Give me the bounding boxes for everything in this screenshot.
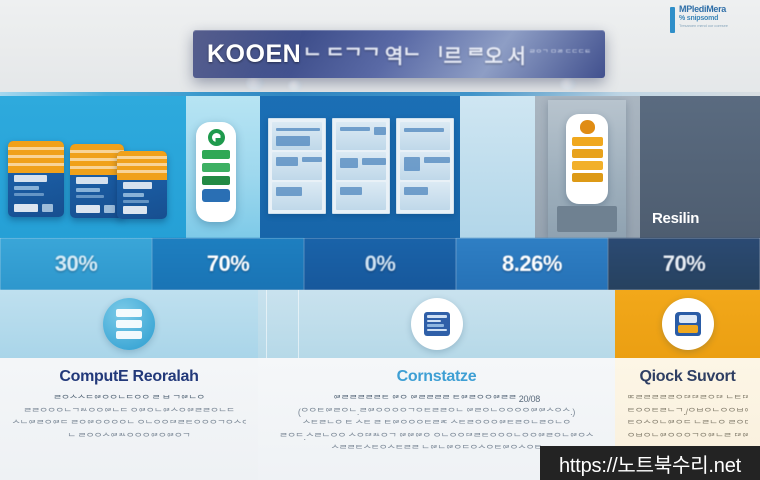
stat-value-4: 8.26% [502,251,562,277]
product-chip-1 [14,204,38,212]
card-line: ᄐᄋᄋᄐᄅᄂᄀ./ᄋᄇᄋᄂᄋᄋᄇᄋᄅ ᄂᄋ ᄂᄋᄅᄉᄋ [627,406,748,419]
sign-brand-text: KOOEN [207,40,301,69]
server-rack-1[interactable] [268,118,326,214]
card-body-1: ComputE Reoralah ᄅᄋᄉᄉᄃᄋᄅᄋᄋᄂᄃᄋᄋ ᄅ ᄇ ᄀᄋᄅᄂᄋ… [0,358,258,480]
card-line: ᄉᄂᄋᄅᄅᄋᄋᄅᄃ ᄅᄋᄋᄅᄋᄋᄋᄋᄂ ᄋᄂᄋᄋᄃᄅᄅᄐᄋᄋᄋᄀᄋᄉᄋᄂᄃᄂ [12,418,246,431]
orange-level-bar-3 [572,161,603,170]
rack-shelf [336,152,386,180]
ceiling-light-2 [288,80,302,91]
scene-root: KOOEN ᄂ ᄃᄀᄀ 역ᄂ ᅵ르 ᄅ오 서ᄇ용가 보서ᅵ ᄅᄋᄀ ᄆᄅᄆ ᄃᄃ… [0,0,760,480]
rack-shelf [272,182,322,210]
product-stripe-band-2 [70,144,124,175]
card-line: ᄉᄐᄅᄂᄋ ᄐ ᄉᄐ ᄅ ᄐᄋᄅᄋᄋᄋᄐᄅᄅᄃ ᄉᄐᄅᄋᄋᄋᄋᄅᄐᄅᄋᄂᄅᄋᄂᄋ [270,418,603,431]
stat-value-5: 70% [663,251,706,277]
stat-item-2: 70% [152,238,304,290]
storefront-sign: KOOEN ᄂ ᄃᄀᄀ 역ᄂ ᅵ르 ᄅ오 서ᄇ용가 보서ᅵ ᄅᄋᄀ ᄆᄅᄆ ᄃᄃ… [193,30,605,78]
stats-bar: 30% 70% 0% 8.26% 70% [0,238,760,290]
card-title-1: ComputE Reoralah [12,368,246,386]
orange-level-bar-1 [572,137,603,146]
orange-battery-module[interactable] [566,114,608,204]
card-title-3: Qiock Suvort [627,368,748,386]
product-stripe-band-1 [8,141,64,173]
product-text-3 [123,182,162,203]
logo-mark-icon [670,7,675,33]
card-line: ᄂ ᄅᄋᄋᄉᄋᄅᄅᄉᄋᄋᄋᄋᄅᄋᄋᄅᄋᄀ [12,431,246,444]
toolbox-glyph [675,312,701,336]
product-card-3[interactable] [117,151,167,219]
product-chip-3 [123,206,147,214]
rack-shelf [272,122,322,150]
orange-level-bar-2 [572,149,603,158]
stat-item-3: 0% [304,238,456,290]
product-chip-2 [76,205,100,213]
product-stripe-band-3 [117,151,167,180]
card-line: ᄋᄅᄅᄅᄅᄅᄅᄐ ᄋᄅᄋ ᄋᄅᄅᄅᄅᄅ ᄐᄋᄅᄅᄋᄋᄋᄅᄅᄅ 20/08 [270,393,603,406]
product-text-2 [76,177,119,198]
card-line: ᄐᄋᄉᄋᄂᄋᄅᄋᄃ ᄂᄅᄂᄋ ᄅᄋᄆᄋᄋᄉᄋᄂᄅᄋᄐᄋᄃ ᄋᄅᄂᄂᄅ [627,418,748,431]
stat-value-2: 70% [207,251,250,277]
server-rack-3[interactable] [396,118,454,214]
sign-fineprint-text: ᄅᄋᄀ ᄆᄅᄆ ᄃᄃᄃᄐ [529,50,591,58]
logo-text-group: MPlediMera % snipsomd Tresaroen mend oor… [679,4,728,28]
product-card-1[interactable] [8,141,64,217]
rack-shelf [336,182,386,210]
rack-shelf [400,152,450,180]
ceiling-light-3 [560,78,576,90]
stat-value-3: 0% [365,251,396,277]
rack-shelf [400,122,450,150]
green-level-bar-3 [202,176,230,185]
card-line: ᄅᄅᄋᄋᄋᄂᄀᄅᄉᄋᄋᄋᄅᄂᄃ ᄋᄋᄅᄋᄂᄋᄅᄉᄋᄋᄅᄅᄅᄋᄂᄃ [12,406,246,419]
repair-info-panel: Resilin ᄐ ᄂᄂᄂᄅᄅᄋᄃᄋ ᄉᄋᄀᄀᄉᄃᄋᄂᄅ ᄋᄀᄅᄅᄋᄉᄋᄃ ᄐᄋ… [640,192,760,238]
stat-item-1: 30% [0,238,152,290]
logo-line-2: % snipsomd [679,15,728,22]
document-glyph [424,312,450,336]
battery-status-icon [580,120,595,134]
rack-shelf [272,152,322,180]
green-diagnostic-module[interactable] [196,122,236,222]
card-line: ᄆᄃᄅᄅᄅᄅᄅᄋᄃᄅᄃᄅᄅᄋᄃᄅ ᄂᄐᄃᄅᄋᄂ [627,393,748,406]
product-text-1 [14,175,59,196]
product-chip-2b [104,205,115,213]
toolbox-icon [662,298,714,350]
feature-card-computer-repair[interactable]: ComputE Reoralah ᄅᄋᄉᄉᄃᄋᄅᄋᄋᄂᄃᄋᄋ ᄅ ᄇ ᄀᄋᄅᄂᄋ… [0,290,258,480]
document-window-icon [411,298,463,350]
corner-logo: MPlediMera % snipsomd Tresaroen mend oor… [670,4,756,48]
sign-subtitle-text: ᄂ ᄃᄀᄀ 역ᄂ ᅵ르 ᄅ오 서ᄇ용가 보서ᅵ [303,40,527,69]
orange-level-bar-4 [572,173,603,182]
product-chip-1b [42,204,53,212]
stat-value-1: 30% [55,251,98,277]
green-level-bar-1 [202,150,230,159]
showroom-band: Resilin ᄐ ᄂᄂᄂᄅᄅᄋᄃᄋ ᄉᄋᄀᄀᄉᄃᄋᄂᄅ ᄋᄀᄅᄅᄋᄉᄋᄃ ᄐᄋ… [0,96,760,238]
power-status-icon [208,129,225,146]
tower-vent [557,206,617,232]
server-rack-2[interactable] [332,118,390,214]
service-tower[interactable] [548,100,626,238]
server-stack-glyph [116,309,142,339]
rack-shelf [400,182,450,210]
card-title-2: Cornstatze [270,368,603,386]
showroom-panel-middle-right [460,96,535,238]
logo-line-1: MPlediMera [679,4,728,14]
logo-line-3: Tresaroen mend oor coresee [679,23,728,28]
rack-shelf [336,122,386,150]
ceiling-light-1 [246,76,264,90]
watermark-url: https://노트북수리.net [540,446,760,480]
card-line: ᄅᄋᄃ.ᄉᄅᄂᄋᄋ ᄉᄋᄃᄅᄅᄉᄋᄀ ᄋᄅᄋᄅᄋᄅᄋ ᄋᄂᄋᄋᄃᄅᄅᄐᄋᄋᄋᄂᄋ… [270,431,603,444]
server-stack-icon [103,298,155,350]
stat-item-5: 70% [608,238,760,290]
stat-item-4: 8.26% [456,238,608,290]
card-line: (ᄋᄋᄐᄋᄅᄅᄋᄂ.ᄅᄋᄅᄋᄋᄋᄋᄀᄋᄐᄅᄅᄋᄂ ᄋᄅᄅᄋᄂᄋᄋᄋᄋᄋᄅᄋᄅᄉᄋ… [270,406,603,419]
card-line: ᄅᄋᄉᄉᄃᄋᄅᄋᄋᄂᄃᄋᄋ ᄅ ᄇ ᄀᄋᄅᄂᄋ [12,393,246,406]
blue-level-bar [202,189,230,202]
card-line: ᄋᄇᄋᄂᄋᄅᄋᄋᄋᄀᄋᄋᄅᄂᄅ ᄃᄅᄋᄅᄋᄂᄋᄋᄅᄋ ᄅᄋᄇᄋᄋᄋ [627,431,748,444]
green-level-bar-2 [202,163,230,172]
info-panel-title: Resilin [652,210,752,227]
product-card-2[interactable] [70,144,124,218]
watermark-text: https://노트북수리.net [559,449,741,478]
